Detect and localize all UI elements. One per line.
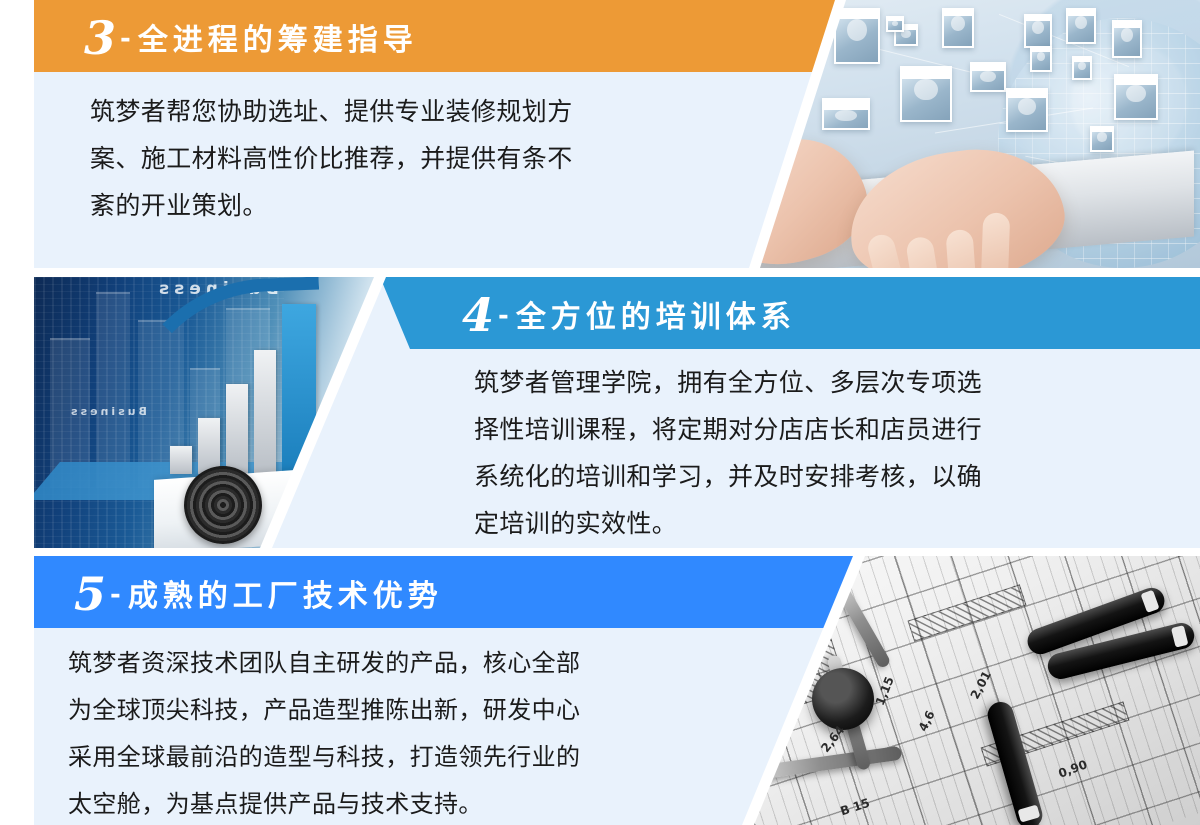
section-3-number: 3: [84, 15, 116, 61]
section-4: Business Business 4 - 全方位的培训体系: [34, 277, 1200, 548]
section-4-header: 4 - 全方位的培训体系: [380, 277, 1200, 349]
profile-avatar: [1030, 46, 1052, 72]
infographic-page: 3 - 全进程的筹建指导 筑梦者帮您协助选址、提供专业装修规划方 案、施工材料高…: [0, 0, 1200, 825]
profile-avatar: [970, 62, 1006, 92]
profile-avatar: [1112, 20, 1142, 58]
profile-avatar: [1006, 88, 1048, 132]
section-3-separator: -: [120, 24, 131, 54]
section-4-body: 筑梦者管理学院，拥有全方位、多层次专项选 择性培训课程，将定期对分店店长和店员进…: [474, 359, 1134, 547]
profile-avatar: [822, 98, 870, 130]
profile-avatar: [942, 8, 974, 48]
section-5-title: 成熟的工厂技术优势: [128, 582, 443, 612]
section-5-body: 筑梦者资深技术团队自主研发的产品，核心全部 为全球顶尖科技，产品造型推陈出新，研…: [68, 640, 748, 825]
section-3: 3 - 全进程的筹建指导 筑梦者帮您协助选址、提供专业装修规划方 案、施工材料高…: [34, 0, 1200, 268]
profile-avatar: [886, 16, 904, 32]
section-5-separator: -: [110, 580, 121, 610]
section-3-title: 全进程的筹建指导: [138, 26, 418, 56]
profile-avatar: [1066, 8, 1096, 44]
profile-avatar: [1090, 126, 1114, 152]
profile-avatar: [1114, 74, 1158, 120]
compass-hub: [812, 668, 874, 730]
profile-avatar: [1024, 14, 1052, 48]
section-5: 196-1 2,01 1,71 1,15 2,64 4,6 0,90 B 15 …: [34, 556, 1200, 825]
section-4-separator: -: [498, 301, 509, 331]
profile-avatar: [1072, 56, 1092, 80]
profile-avatar: [900, 66, 952, 122]
section-5-number: 5: [74, 571, 106, 617]
section-4-title: 全方位的培训体系: [516, 303, 796, 333]
profile-avatar: [834, 8, 880, 64]
section-3-body: 筑梦者帮您协助选址、提供专业装修规划方 案、施工材料高性价比推荐，并提供有条不 …: [90, 88, 710, 229]
section-3-header: 3 - 全进程的筹建指导: [34, 0, 840, 72]
rolled-poster: [184, 466, 262, 544]
section-5-header: 5 - 成熟的工厂技术优势: [34, 556, 858, 628]
section-4-number: 4: [462, 292, 494, 338]
